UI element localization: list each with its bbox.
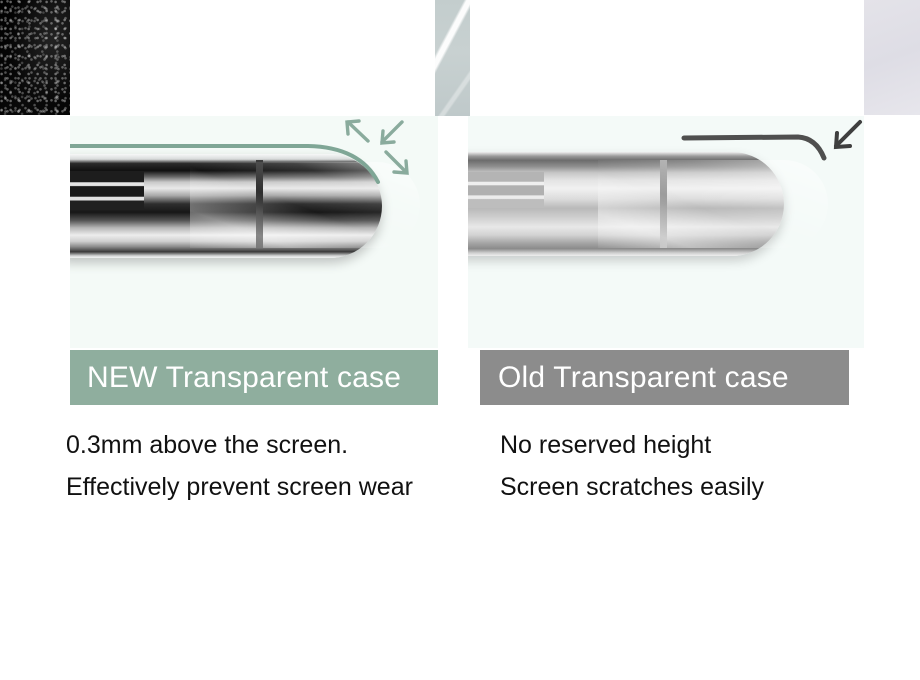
old-case-image-panel — [468, 116, 864, 348]
lavender-strip — [864, 0, 920, 115]
new-case-caption: 0.3mm above the screen. Effectively prev… — [66, 424, 413, 508]
new-case-phone-cutout — [70, 172, 144, 210]
new-case-gloss-highlight — [190, 162, 420, 248]
new-case-title-band: NEW Transparent case — [70, 350, 438, 405]
old-case-phone-cutout — [468, 172, 544, 208]
infographic-canvas: NEW Transparent case Old Transparent cas… — [0, 0, 920, 680]
arrow-down-left-icon — [836, 122, 860, 147]
new-case-title-text: NEW Transparent case — [87, 361, 401, 395]
arrow-down-left-icon — [382, 122, 402, 143]
marble-strip — [435, 0, 470, 116]
new-case-image-panel — [70, 116, 438, 348]
old-case-title-text: Old Transparent case — [498, 361, 789, 395]
arrow-up-left-icon — [347, 121, 368, 141]
old-case-caption: No reserved height Screen scratches easi… — [500, 424, 764, 508]
old-case-title-band: Old Transparent case — [480, 350, 849, 405]
new-case-caption-line-2: Effectively prevent screen wear — [66, 466, 413, 508]
old-case-gloss-highlight — [598, 160, 828, 248]
old-case-caption-line-1: No reserved height — [500, 424, 764, 466]
black-glitter-strip — [0, 0, 70, 115]
new-case-caption-line-1: 0.3mm above the screen. — [66, 424, 413, 466]
old-case-caption-line-2: Screen scratches easily — [500, 466, 764, 508]
